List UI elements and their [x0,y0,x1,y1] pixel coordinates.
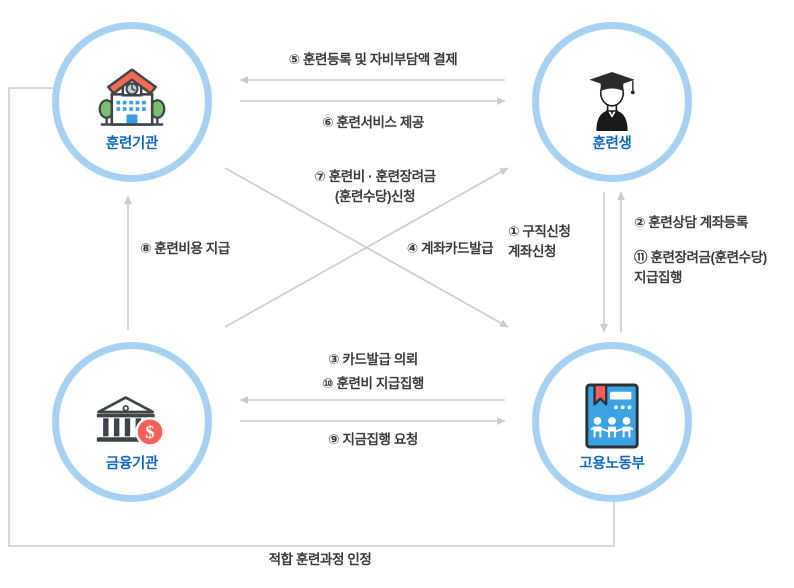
node-label: 금융기관 [106,457,158,472]
node-training-institution[interactable]: 훈련기관 [52,22,212,182]
label-step9: ⑨ 지금집행 요청 [240,430,506,450]
label-step8: ⑧ 훈련비용 지급 [140,239,270,259]
label-step1: ① 구직신청 계좌신청 [508,222,594,261]
label-step2: ② 훈련상담 계좌등록 [634,213,794,233]
graduate-student-icon [575,57,649,131]
node-label: 훈련생 [592,137,631,152]
label-step4: ④ 계좌카드발급 [390,239,510,259]
flow-diagram: 훈련기관 훈련생 [0,0,794,588]
label-step11: ⑪ 훈련장려금(훈련수당) 지급집행 [634,248,794,287]
label-bottom-loop: 적합 훈련과정 인정 [160,550,480,570]
node-financial-institution[interactable]: $ 금융기관 [52,342,212,502]
label-step7: ⑦ 훈련비 · 훈련장려금 (훈련수당)신청 [240,167,510,206]
label-step6: ⑥ 훈련서비스 제공 [240,113,506,133]
node-trainee[interactable]: 훈련생 [532,22,692,182]
node-ministry[interactable]: 고용노동부 [532,342,692,502]
label-step10: ⑩ 훈련비 지급집행 [240,374,506,394]
bank-money-icon: $ [95,377,169,451]
node-label: 훈련기관 [106,137,158,152]
label-step5: ⑤ 훈련등록 및 자비부담액 결제 [240,50,506,70]
school-building-icon [95,57,169,131]
government-book-people-icon [575,377,649,451]
svg-text:$: $ [146,422,155,442]
node-label: 고용노동부 [579,457,644,472]
label-step3: ③ 카드발급 의뢰 [240,350,506,370]
